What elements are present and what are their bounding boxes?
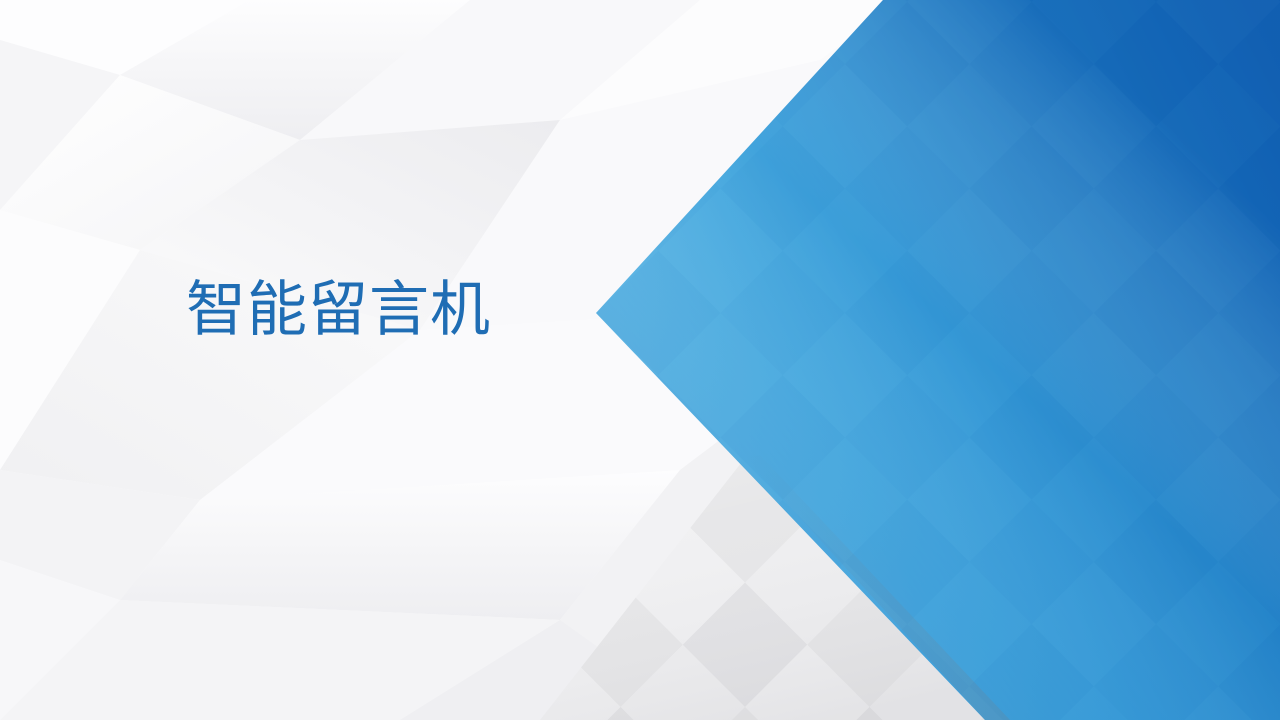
blue-block-shadow	[0, 0, 1280, 720]
page-title: 智能留言机	[186, 278, 491, 341]
title-slide: 智能留言机	[0, 0, 1280, 720]
slide-title-block: 智能留言机	[186, 266, 606, 352]
